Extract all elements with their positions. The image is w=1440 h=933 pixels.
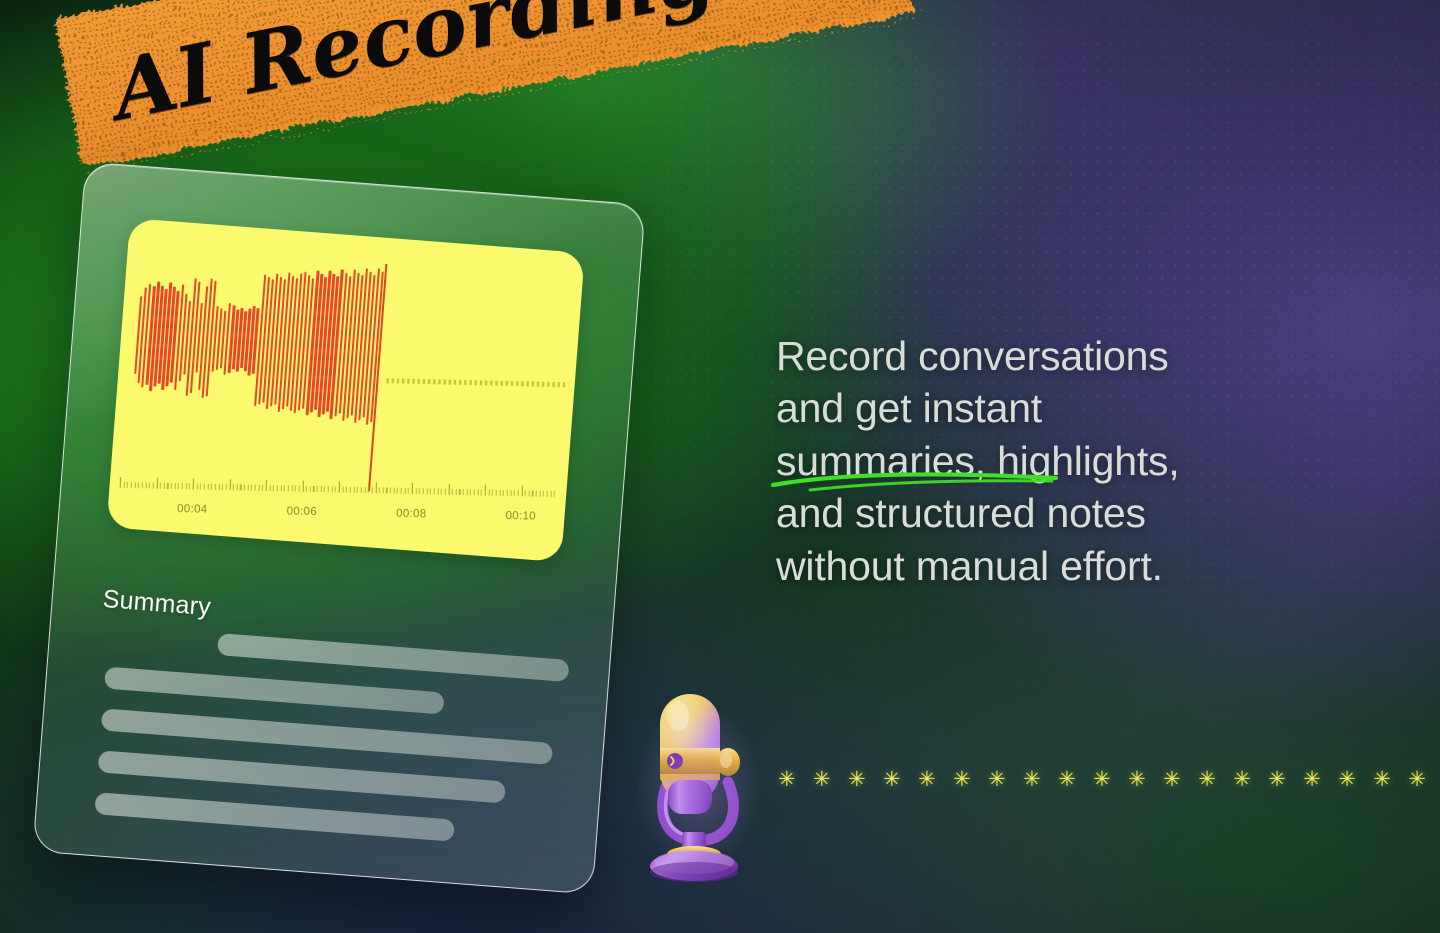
ruler-tick-minor [291,485,292,491]
skeleton-line [98,750,506,803]
ruler-tick-minor [514,490,515,496]
copy-line-4: and structured notes [776,490,1146,536]
ruler-tick-minor [171,483,172,489]
summary-section: Summary [88,585,573,829]
ruler-tick-minor [273,485,274,491]
ruler-tick-minor [430,488,431,494]
ruler-tick-minor [503,490,504,496]
ruler-tick-minor [499,490,500,496]
ruler-tick-minor [207,484,208,490]
ruler-tick-major [156,478,157,489]
waveform-plot[interactable] [113,218,585,480]
ruler-tick-minor [226,484,227,490]
ruler-tick-minor [437,489,438,495]
microphone-glow [610,668,786,904]
star-icon: ✳ [848,769,866,790]
ruler-tick-minor [474,489,475,495]
ruler-tick-major [229,479,230,490]
star-icon: ✳ [1268,769,1286,790]
ruler-tick-minor [361,487,362,493]
ruler-tick-minor [419,488,420,494]
ruler-tick-minor [258,485,259,491]
ruler-tick-minor [426,488,427,494]
ruler-tick-major [302,481,303,492]
star-icon: ✳ [953,769,971,790]
ruler-tick-major [266,480,267,491]
ruler-tick-minor [357,487,358,493]
star-icon: ✳ [1163,769,1181,790]
ruler-tick-minor [397,488,398,494]
ruler-tick-minor [306,486,307,492]
ruler-tick-minor [131,482,132,488]
ruler-tick-minor [368,487,369,493]
ruler-tick-minor [269,485,270,491]
ruler-tick-minor [445,489,446,495]
star-icon: ✳ [1198,769,1216,790]
ruler-tick-major [375,482,376,493]
poster-canvas: AI Recording Summary 00:0400:0600:0800:1… [0,0,1440,933]
ruler-tick-minor [415,488,416,494]
ruler-tick-minor [401,488,402,494]
microphone-icon [634,686,762,886]
star-icon: ✳ [1058,769,1076,790]
ruler-tick-minor [331,486,332,492]
ruler-tick-minor [507,490,508,496]
ruler-tick-minor [200,484,201,490]
ruler-tick-minor [237,484,238,490]
star-icon: ✳ [1303,769,1321,790]
copy-line-2: and get instant [776,385,1042,431]
ruler-tick-minor [342,487,343,493]
ruler-tick-minor [204,484,205,490]
ruler-tick-major [120,477,121,488]
star-divider: ✳✳✳✳✳✳✳✳✳✳✳✳✳✳✳✳✳✳✳ [778,762,1426,796]
star-icon: ✳ [988,769,1006,790]
ruler-tick-minor [280,485,281,491]
ruler-tick-minor [324,486,325,492]
ruler-tick-minor [182,483,183,489]
ruler-tick-minor [455,489,456,495]
ruler-tick-minor [142,482,143,488]
ruler-tick-minor [525,490,526,496]
ruler-tick-minor [284,485,285,491]
ruler-tick-minor [295,486,296,492]
ruler-tick-minor [364,487,365,493]
skeleton-line [104,667,445,715]
ruler-tick-minor [240,484,241,490]
ruler-tick-minor [390,488,391,494]
ruler-tick-minor [174,483,175,489]
ruler-tick-minor [441,489,442,495]
ruler-tick-minor [470,489,471,495]
ruler-tick-minor [382,487,383,493]
ruler-tick-major [485,485,486,496]
ruler-tick-minor [532,491,533,497]
ruler-tick-minor [160,483,161,489]
star-icon: ✳ [1373,769,1391,790]
ruler-tick-minor [222,484,223,490]
ruler-tick-minor [134,482,135,488]
ruler-tick-minor [459,489,460,495]
ruler-tick-minor [251,485,252,491]
waveform-panel[interactable]: 00:0400:0600:0800:10 [106,218,584,562]
star-icon: ✳ [918,769,936,790]
description-text: Record conversations and get instant sum… [776,330,1376,592]
ruler-tick-minor [518,490,519,496]
ruler-time-label: 00:10 [505,510,536,523]
ruler-tick-minor [288,485,289,491]
copy-highlight-word: summaries, [776,438,997,484]
ruler-tick-minor [149,482,150,488]
ruler-tick-minor [215,484,216,490]
ruler-tick-minor [536,491,537,497]
ruler-tick-minor [543,491,544,497]
ruler-tick-minor [262,485,263,491]
ruler-tick-minor [138,482,139,488]
ruler-tick-minor [554,491,555,497]
ruler-tick-minor [434,488,435,494]
ruler-tick-minor [481,489,482,495]
ruler-tick-major [448,484,449,495]
ruler-tick-minor [299,486,300,492]
ruler-tick-major [412,483,413,494]
ruler-tick-minor [310,486,311,492]
summary-skeleton-lines [88,624,570,830]
ruler-tick-minor [233,484,234,490]
ruler-tick-minor [277,485,278,491]
ruler-tick-minor [393,488,394,494]
ruler-tick-minor [317,486,318,492]
ruler-tick-minor [496,490,497,496]
ruler-tick-minor [550,491,551,497]
ruler-tick-minor [492,490,493,496]
ruler-tick-minor [196,483,197,489]
ruler-tick-minor [404,488,405,494]
ruler-tick-minor [127,482,128,488]
star-icon: ✳ [1233,769,1251,790]
star-icon: ✳ [1338,769,1356,790]
ruler-tick-minor [379,487,380,493]
ruler-tick-minor [528,490,529,496]
star-icon: ✳ [1023,769,1041,790]
ruler-tick-minor [346,487,347,493]
ruler-tick-minor [185,483,186,489]
ruler-tick-minor [466,489,467,495]
ruler-tick-minor [178,483,179,489]
ruler-tick-minor [218,484,219,490]
ruler-tick-minor [247,485,248,491]
ruler-tick-minor [386,487,387,493]
ruler-tick-minor [335,486,336,492]
ruler-tick-major [521,485,522,496]
recording-summary-card: 00:0400:0600:0800:10 Summary [32,161,645,894]
ruler-tick-minor [452,489,453,495]
ruler-tick-minor [153,483,154,489]
ruler-tick-minor [408,488,409,494]
waveform-bars [129,219,386,465]
ruler-tick-minor [463,489,464,495]
ruler-tick-minor [211,484,212,490]
ruler-tick-minor [244,484,245,490]
ruler-tick-minor [510,490,511,496]
ruler-tick-minor [423,488,424,494]
timeline-ruler[interactable]: 00:0400:0600:0800:10 [115,446,564,527]
ruler-tick-minor [167,483,168,489]
ruler-tick-minor [189,483,190,489]
copy-line-1: Record conversations [776,333,1169,379]
ruler-tick-minor [547,491,548,497]
ruler-tick-minor [145,482,146,488]
ruler-tick-minor [488,490,489,496]
waveform-upcoming-dotted-line [386,378,568,387]
ruler-tick-minor [353,487,354,493]
ruler-tick-minor [328,486,329,492]
star-icon: ✳ [1408,769,1426,790]
star-icon: ✳ [1128,769,1146,790]
ruler-tick-minor [539,491,540,497]
ruler-time-label: 00:06 [287,505,318,518]
ruler-time-label: 00:08 [396,508,427,521]
star-icon: ✳ [883,769,901,790]
ruler-tick-minor [123,482,124,488]
ruler-tick-minor [313,486,314,492]
star-icon: ✳ [1093,769,1111,790]
star-icon: ✳ [778,769,796,790]
ruler-tick-minor [372,487,373,493]
green-underline-icon [770,468,1060,494]
ruler-tick-major [339,481,340,492]
ruler-time-label: 00:04 [177,503,208,516]
ruler-tick-minor [477,489,478,495]
ruler-tick-minor [164,483,165,489]
ruler-tick-minor [320,486,321,492]
star-icon: ✳ [813,769,831,790]
ruler-tick-minor [255,485,256,491]
copy-line-5: without manual effort. [776,543,1163,589]
ruler-tick-major [193,478,194,489]
ruler-tick-minor [350,487,351,493]
